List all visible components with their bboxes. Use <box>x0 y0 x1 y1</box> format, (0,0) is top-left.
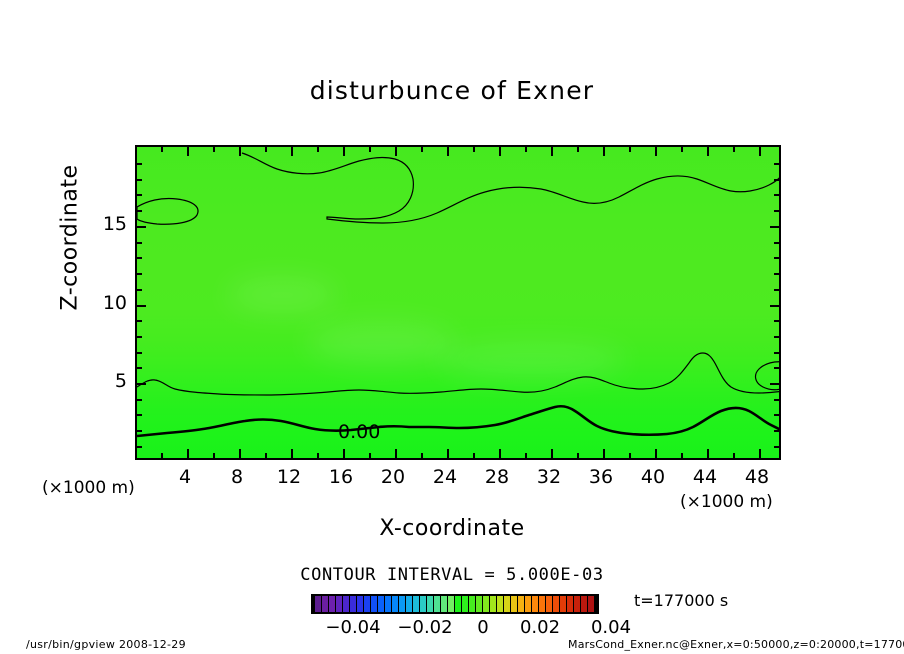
colorbar-band <box>322 596 329 612</box>
x-tick-top-major <box>655 147 657 156</box>
x-axis-unit-left: (×1000 m) <box>42 478 135 498</box>
y-tick-right-minor <box>774 273 779 275</box>
x-tick-top-major <box>395 147 397 156</box>
colorbar-band <box>581 596 588 612</box>
x-tick-label: 12 <box>267 466 311 488</box>
colorbar-band <box>427 596 434 612</box>
colorbar-band <box>567 596 574 612</box>
x-axis-title: X-coordinate <box>0 516 904 541</box>
x-tick-major <box>499 449 501 458</box>
colorbar-band <box>483 596 490 612</box>
colorbar <box>311 594 599 614</box>
x-tick-minor <box>577 453 579 458</box>
x-tick-top-major <box>447 147 449 156</box>
colorbar-band <box>490 596 497 612</box>
x-tick-label: 4 <box>163 466 207 488</box>
colorbar-tick-label: 0.02 <box>505 617 575 638</box>
colorbar-band <box>413 596 420 612</box>
x-tick-label: 48 <box>735 466 779 488</box>
colorbar-band <box>588 596 595 612</box>
x-tick-top-major <box>499 147 501 156</box>
footer-command-info: /usr/bin/gpview 2008-12-29 <box>26 638 186 651</box>
colorbar-band <box>420 596 427 612</box>
colorbar-band <box>392 596 399 612</box>
x-tick-major <box>395 449 397 458</box>
y-tick-minor <box>137 446 142 448</box>
y-tick-minor <box>137 367 142 369</box>
colorbar-band <box>364 596 371 612</box>
colorbar-band <box>469 596 476 612</box>
contour-label-zero: 0.00 <box>334 421 384 443</box>
x-tick-major <box>655 449 657 458</box>
y-tick-right-minor <box>774 289 779 291</box>
x-tick-top-minor <box>369 147 371 152</box>
x-tick-top-major <box>707 147 709 156</box>
y-tick-minor <box>137 242 142 244</box>
x-tick-minor <box>525 453 527 458</box>
y-tick-right-minor <box>774 179 779 181</box>
x-tick-top-minor <box>161 147 163 152</box>
y-tick-right-minor <box>774 210 779 212</box>
y-tick-label: 5 <box>97 370 127 392</box>
colorbar-band <box>504 596 511 612</box>
x-tick-label: 40 <box>631 466 675 488</box>
x-tick-minor <box>681 453 683 458</box>
colorbar-band <box>378 596 385 612</box>
x-tick-major <box>707 449 709 458</box>
contour-interval-caption: CONTOUR INTERVAL = 5.000E-03 <box>0 565 904 585</box>
y-tick-right-major <box>770 305 779 307</box>
colorbar-band <box>511 596 518 612</box>
x-tick-label: 20 <box>371 466 415 488</box>
y-tick-major <box>137 383 146 385</box>
colorbar-band <box>315 596 322 612</box>
colorbar-band <box>343 596 350 612</box>
x-tick-top-minor <box>577 147 579 152</box>
y-tick-label: 15 <box>97 213 127 235</box>
y-tick-minor <box>137 289 142 291</box>
y-tick-minor <box>137 194 142 196</box>
x-tick-top-major <box>239 147 241 156</box>
x-tick-major <box>291 449 293 458</box>
x-tick-major <box>759 449 761 458</box>
x-tick-minor <box>473 453 475 458</box>
y-tick-right-minor <box>774 194 779 196</box>
y-tick-minor <box>137 352 142 354</box>
y-tick-minor <box>137 430 142 432</box>
page-title: disturbunce of Exner <box>0 76 904 105</box>
y-tick-major <box>137 305 146 307</box>
x-tick-top-minor <box>525 147 527 152</box>
y-axis-title: Z-coordinate <box>58 118 83 358</box>
x-tick-top-major <box>551 147 553 156</box>
time-annotation: t=177000 s <box>634 591 728 610</box>
gpview-plot-window: disturbunce of Exner <box>0 0 904 654</box>
colorbar-band <box>560 596 567 612</box>
y-tick-minor <box>137 163 142 165</box>
y-tick-major <box>137 226 146 228</box>
y-tick-minor <box>137 257 142 259</box>
x-axis-unit-right: (×1000 m) <box>680 492 773 512</box>
x-tick-label: 24 <box>423 466 467 488</box>
x-tick-minor <box>421 453 423 458</box>
y-tick-minor <box>137 414 142 416</box>
colorbar-band <box>350 596 357 612</box>
colorbar-band <box>336 596 343 612</box>
x-tick-top-minor <box>213 147 215 152</box>
y-tick-right-minor <box>774 320 779 322</box>
y-tick-minor <box>137 336 142 338</box>
x-tick-major <box>551 449 553 458</box>
plot-area <box>135 145 781 460</box>
x-tick-major <box>187 449 189 458</box>
x-tick-top-minor <box>265 147 267 152</box>
x-tick-label: 44 <box>683 466 727 488</box>
colorbar-band <box>329 596 336 612</box>
colorbar-band <box>574 596 581 612</box>
x-tick-label: 36 <box>579 466 623 488</box>
colorbar-band <box>525 596 532 612</box>
colorbar-band <box>539 596 546 612</box>
x-tick-minor <box>213 453 215 458</box>
colorbar-band <box>385 596 392 612</box>
x-tick-minor <box>265 453 267 458</box>
y-tick-minor <box>137 179 142 181</box>
y-tick-right-minor <box>774 257 779 259</box>
x-tick-top-major <box>759 147 761 156</box>
x-tick-top-minor <box>733 147 735 152</box>
colorbar-gradient <box>315 596 595 612</box>
y-tick-right-minor <box>774 430 779 432</box>
x-tick-top-minor <box>473 147 475 152</box>
colorbar-band <box>476 596 483 612</box>
colorbar-tick-label: 0.04 <box>576 617 646 638</box>
x-tick-major <box>239 449 241 458</box>
x-tick-label: 28 <box>475 466 519 488</box>
x-tick-major <box>603 449 605 458</box>
y-tick-right-minor <box>774 242 779 244</box>
x-tick-label: 32 <box>527 466 571 488</box>
colorbar-band <box>357 596 364 612</box>
x-tick-top-major <box>187 147 189 156</box>
y-tick-right-minor <box>774 367 779 369</box>
colorbar-band <box>518 596 525 612</box>
x-tick-minor <box>161 453 163 458</box>
y-tick-right-minor <box>774 352 779 354</box>
x-tick-top-minor <box>317 147 319 152</box>
colorbar-band <box>448 596 455 612</box>
y-tick-right-minor <box>774 414 779 416</box>
colorbar-band <box>371 596 378 612</box>
x-tick-top-minor <box>629 147 631 152</box>
footer-dataset-info: MarsCond_Exner.nc@Exner,x=0:50000,z=0:20… <box>568 638 904 651</box>
colorbar-band <box>399 596 406 612</box>
y-tick-right-minor <box>774 446 779 448</box>
x-tick-major <box>343 449 345 458</box>
colorbar-band <box>462 596 469 612</box>
x-tick-top-major <box>603 147 605 156</box>
y-tick-right-minor <box>774 399 779 401</box>
y-tick-minor <box>137 320 142 322</box>
y-tick-right-major <box>770 383 779 385</box>
y-tick-right-minor <box>774 336 779 338</box>
y-tick-label: 10 <box>97 292 127 314</box>
x-tick-minor <box>317 453 319 458</box>
x-tick-minor <box>369 453 371 458</box>
x-tick-label: 8 <box>215 466 259 488</box>
x-tick-minor <box>733 453 735 458</box>
colorbar-band <box>546 596 553 612</box>
colorbar-tick-label: −0.04 <box>318 617 388 638</box>
x-tick-major <box>447 449 449 458</box>
y-tick-minor <box>137 210 142 212</box>
x-tick-top-major <box>291 147 293 156</box>
x-tick-top-major <box>343 147 345 156</box>
y-tick-minor <box>137 399 142 401</box>
colorbar-band <box>434 596 441 612</box>
colorbar-band <box>553 596 560 612</box>
y-tick-minor <box>137 273 142 275</box>
x-tick-top-minor <box>421 147 423 152</box>
y-tick-right-major <box>770 226 779 228</box>
colorbar-band <box>441 596 448 612</box>
y-tick-right-minor <box>774 163 779 165</box>
x-tick-label: 16 <box>319 466 363 488</box>
x-tick-minor <box>629 453 631 458</box>
x-tick-top-minor <box>681 147 683 152</box>
colorbar-band <box>406 596 413 612</box>
colorbar-band <box>532 596 539 612</box>
colorbar-band <box>497 596 504 612</box>
contour-lines <box>137 147 781 460</box>
colorbar-band <box>455 596 462 612</box>
